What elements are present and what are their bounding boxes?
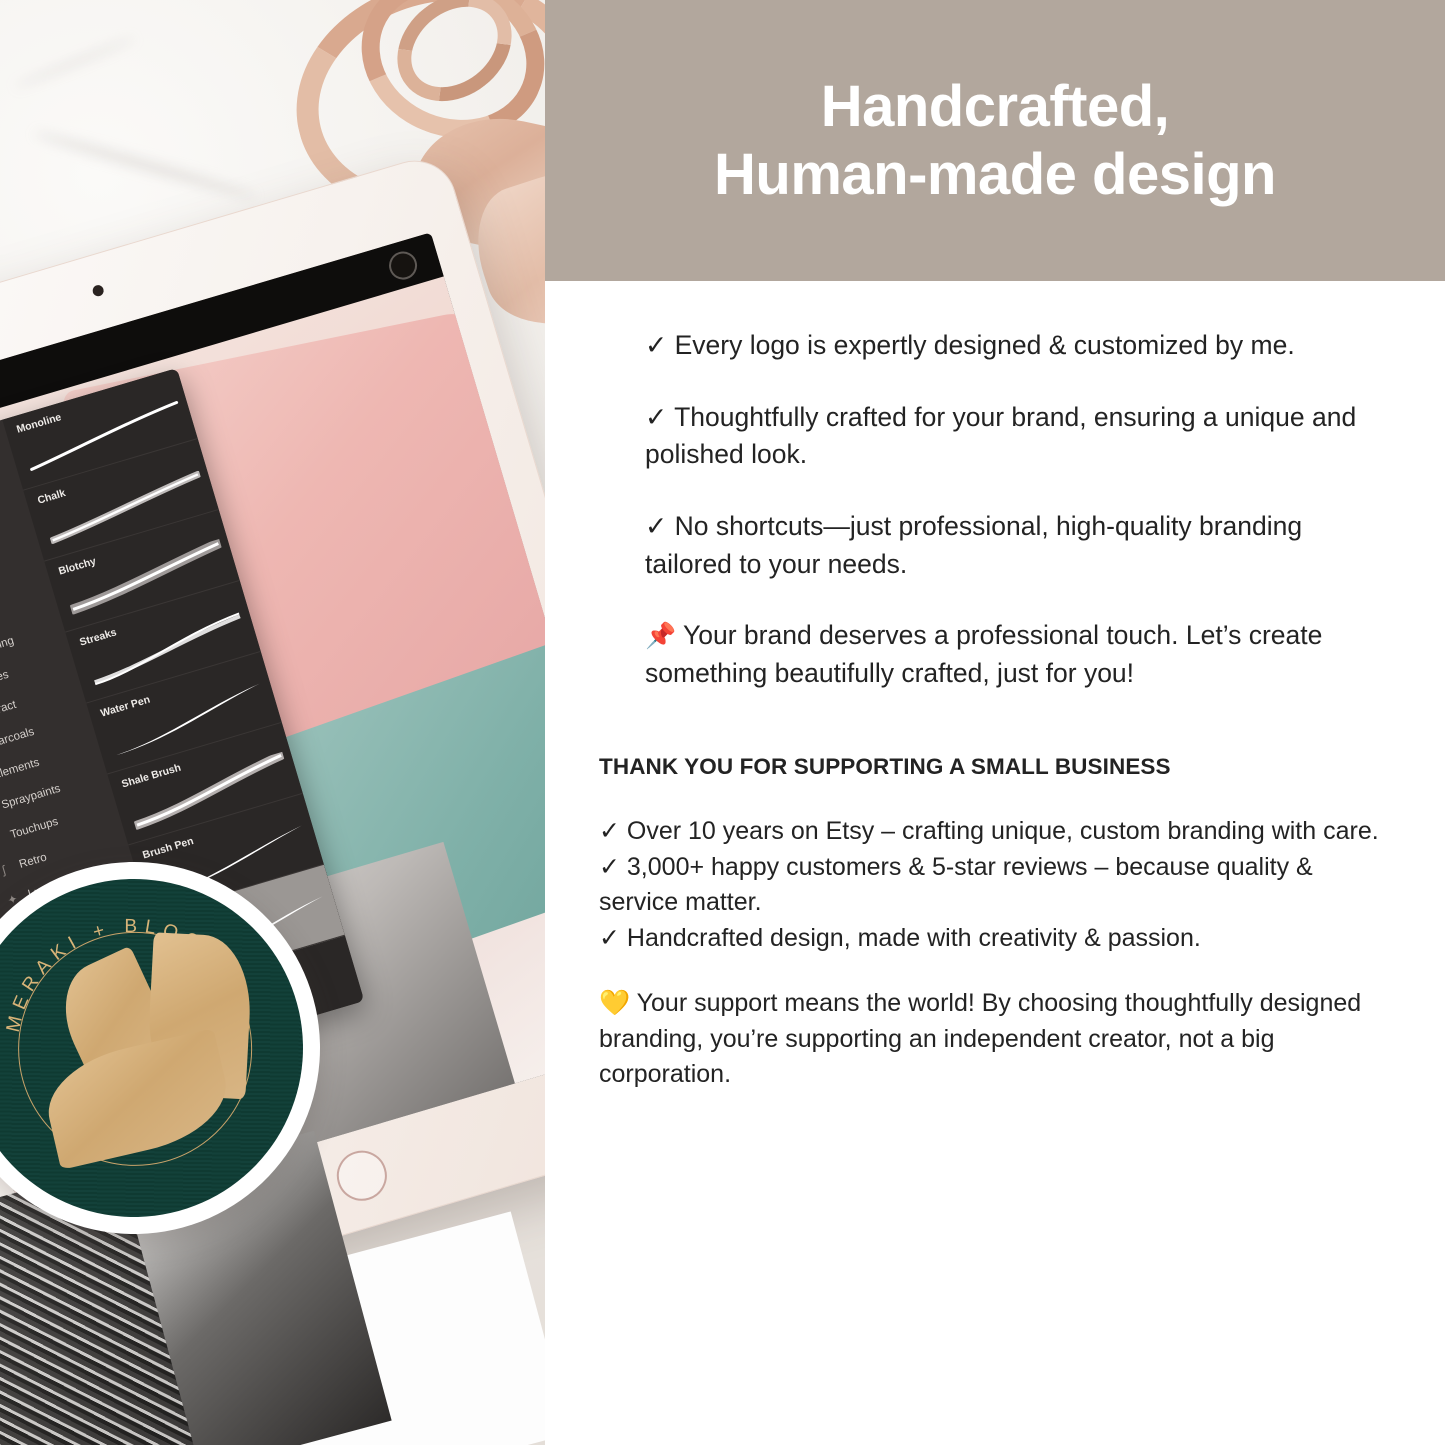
benefit-list: ✓ Every logo is expertly designed & cust… [645, 327, 1389, 692]
benefit-item: ✓ Thoughtfully crafted for your brand, e… [645, 399, 1389, 474]
page-title: Handcrafted, Human-made design [714, 73, 1276, 209]
check-mark-icon: ✓ [645, 402, 667, 432]
front-camera-icon [91, 284, 105, 298]
headline-banner: Handcrafted, Human-made design [545, 0, 1445, 281]
retro-icon: ʃ [0, 861, 12, 877]
home-button[interactable] [331, 1145, 393, 1207]
benefit-item: ✓ No shortcuts—just professional, high-q… [645, 508, 1389, 583]
brush-name: Chalk [36, 487, 67, 507]
credentials-list: ✓ Over 10 years on Etsy – crafting uniqu… [599, 814, 1389, 1093]
credential-item: ✓ 3,000+ happy customers & 5-star review… [599, 850, 1389, 921]
benefit-text: No shortcuts—just professional, high-qua… [645, 511, 1302, 579]
credential-text: Handcrafted design, made with creativity… [627, 924, 1201, 952]
color-swatch-icon[interactable] [386, 248, 421, 283]
credential-text: 3,000+ happy customers & 5-star reviews … [599, 853, 1313, 917]
brush-name: Blotchy [57, 555, 97, 577]
benefit-text: Your brand deserves a professional touch… [645, 620, 1322, 688]
check-mark-icon: ✓ [599, 853, 620, 881]
check-mark-icon: ✓ [599, 924, 620, 952]
check-mark-icon: ✓ [599, 817, 620, 845]
marble-vein [14, 36, 136, 89]
copy-body: ✓ Every logo is expertly designed & cust… [545, 281, 1445, 1093]
benefit-item: 📌 Your brand deserves a professional tou… [645, 617, 1389, 692]
etsy-listing-graphic: + Brush Library ◆Sketching ●Inking ✒Call… [0, 0, 1445, 1445]
closing-paragraph: 💛 Your support means the world! By choos… [599, 986, 1389, 1093]
product-photo-panel: + Brush Library ◆Sketching ●Inking ✒Call… [0, 0, 545, 1445]
pushpin-icon: 📌 [645, 622, 676, 650]
headline-line-1: Handcrafted, [821, 74, 1170, 139]
credential-item: ✓ Over 10 years on Etsy – crafting uniqu… [599, 814, 1389, 850]
yellow-heart-icon: 💛 [599, 989, 630, 1017]
benefit-text: Thoughtfully crafted for your brand, ens… [645, 402, 1356, 470]
spacer [599, 956, 1389, 986]
copy-panel: Handcrafted, Human-made design ✓ Every l… [545, 0, 1445, 1445]
marble-vein [33, 128, 257, 201]
credential-text: Over 10 years on Etsy – crafting unique,… [627, 817, 1379, 845]
benefit-text: Every logo is expertly designed & custom… [675, 330, 1295, 360]
closing-text: Your support means the world! By choosin… [599, 989, 1361, 1088]
touchups-icon: ▽ [0, 832, 4, 848]
check-mark-icon: ✓ [645, 330, 667, 360]
brush-name: Streaks [78, 626, 118, 648]
credential-item: ✓ Handcrafted design, made with creativi… [599, 921, 1389, 957]
check-mark-icon: ✓ [645, 511, 667, 541]
headline-line-2: Human-made design [714, 141, 1276, 209]
benefit-item: ✓ Every logo is expertly designed & cust… [645, 327, 1389, 365]
thank-you-heading: THANK YOU FOR SUPPORTING A SMALL BUSINES… [599, 754, 1389, 780]
